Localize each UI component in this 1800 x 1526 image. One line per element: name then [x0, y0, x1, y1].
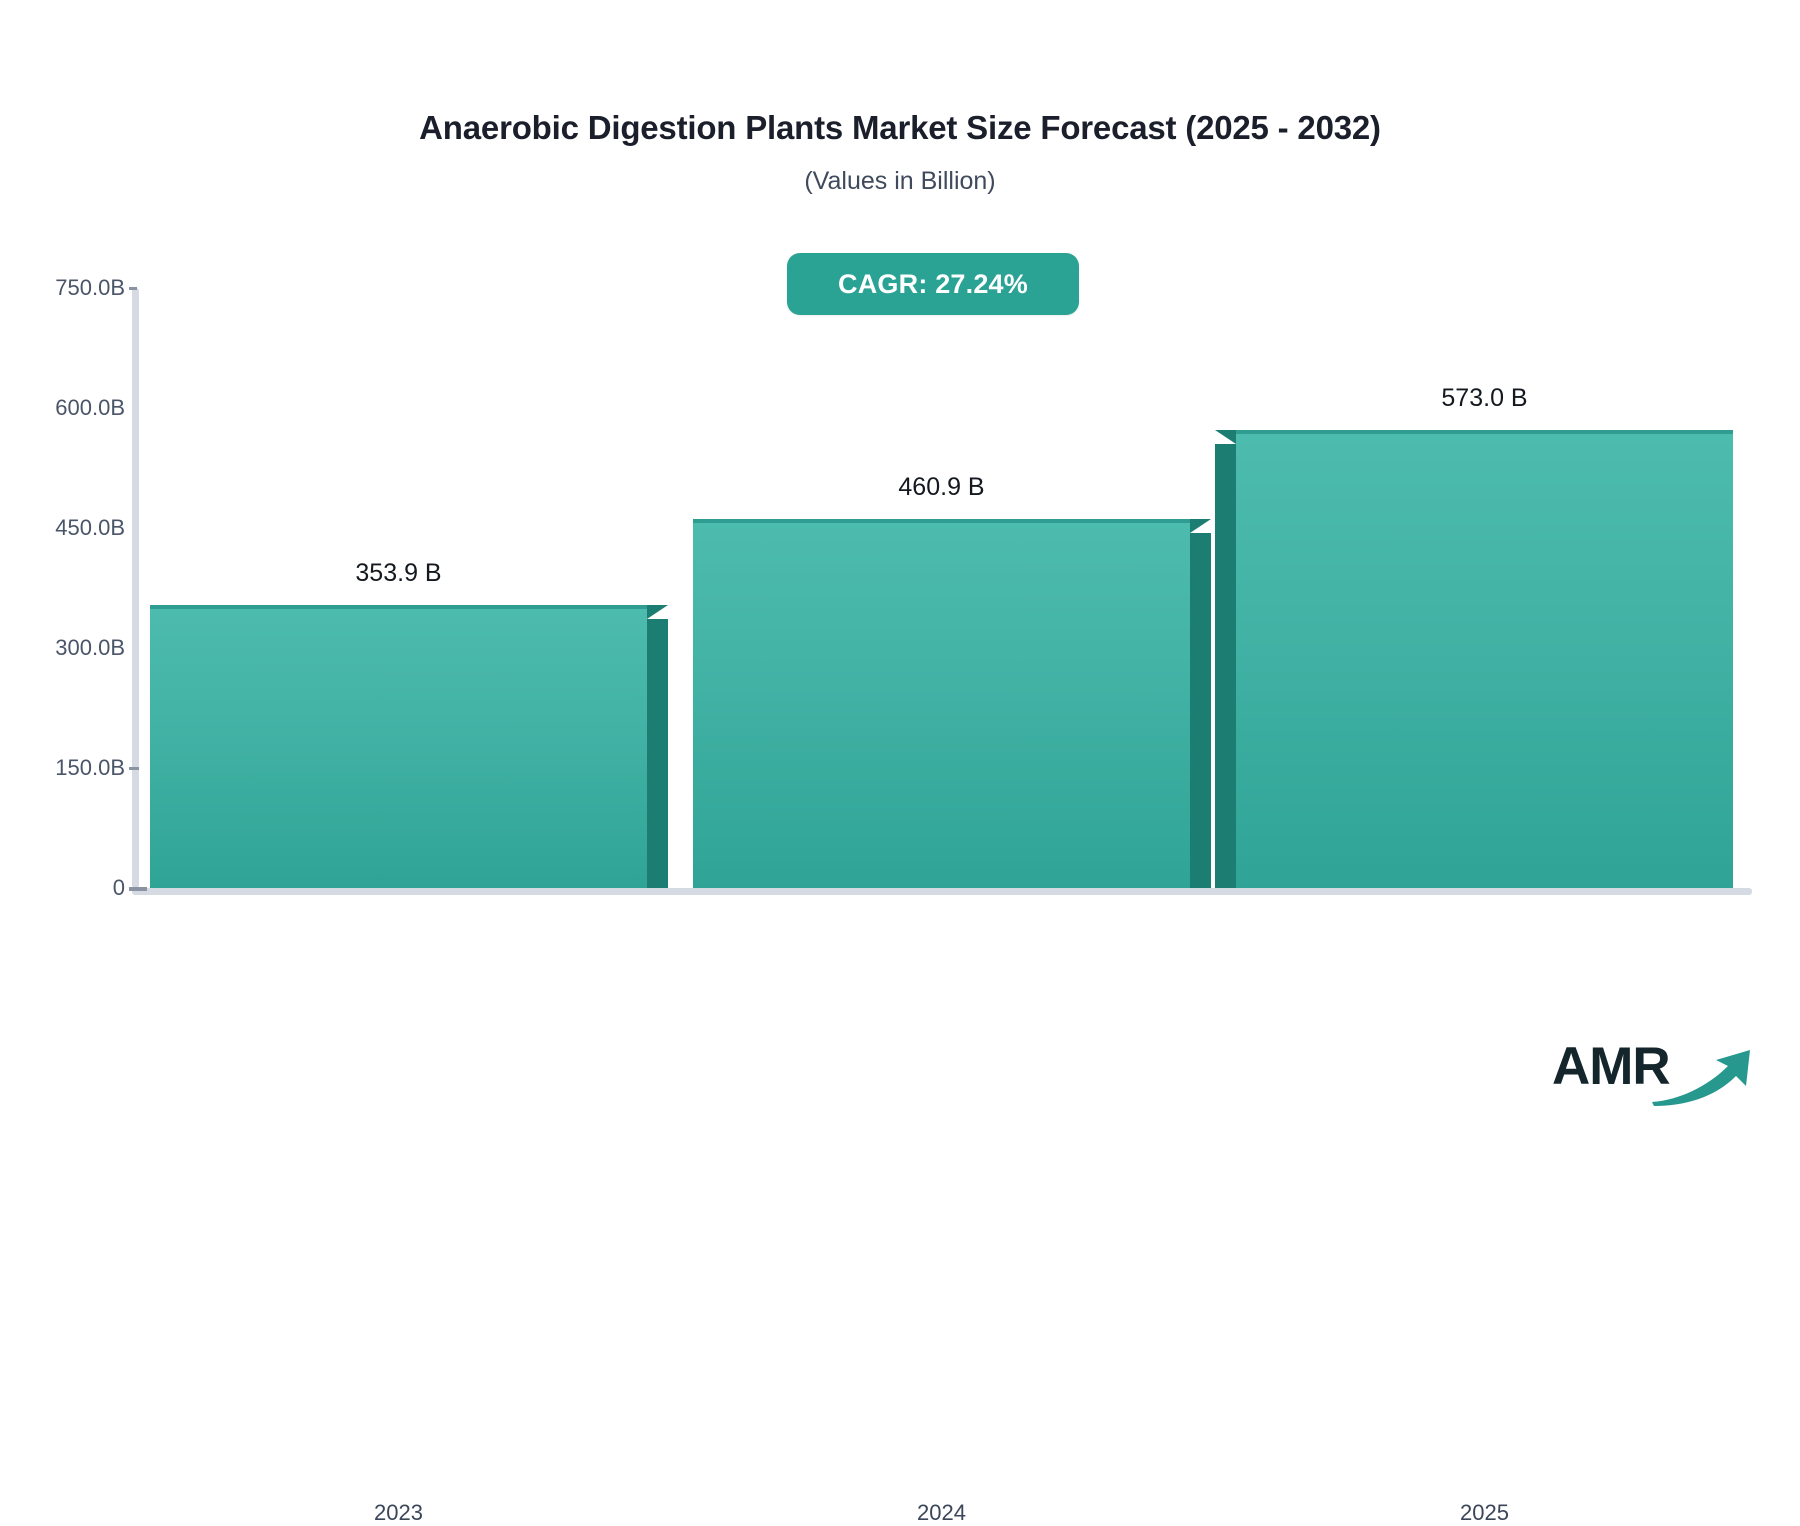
bar-top-edge [150, 605, 647, 609]
bar-value-label-2023: 353.9 B [150, 559, 647, 588]
y-axis-tick-0: 0 [0, 873, 125, 903]
bar-side-cap-2025 [1215, 430, 1236, 444]
bar-side-cap-2024 [1190, 519, 1211, 533]
bar-value-label-2024: 460.9 B [693, 473, 1190, 502]
y-axis-tick-label: 150.0B [55, 755, 125, 781]
y-axis-tick-dash [129, 887, 147, 891]
bar-face-2025 [1236, 430, 1733, 888]
y-axis-tick-dash [129, 287, 137, 290]
x-axis-label-2023: 2023 [150, 1500, 647, 1526]
title-block: Anaerobic Digestion Plants Market Size F… [0, 108, 1800, 196]
x-axis-label-2025: 2025 [1236, 1500, 1733, 1526]
y-axis-tick-label: 300.0B [55, 635, 125, 661]
y-axis-tick-150: 150.0B [0, 753, 125, 783]
x-axis-line [132, 888, 1752, 895]
growth-arrow-icon [1650, 1046, 1758, 1108]
x-axis-label-2024: 2024 [693, 1500, 1190, 1526]
chart-card: Anaerobic Digestion Plants Market Size F… [0, 0, 1800, 1156]
y-axis-tick-label: 450.0B [55, 515, 125, 541]
y-axis-tick-label: 600.0B [55, 395, 125, 421]
bar-side-2024 [1190, 533, 1211, 888]
y-axis-tick-label: 750.0B [55, 275, 125, 301]
bar-side-2023 [647, 619, 668, 888]
bar-value-label-2025: 573.0 B [1236, 384, 1733, 413]
y-axis-tick-label: 0 [113, 875, 125, 901]
bar-face-2023 [150, 605, 647, 888]
y-axis-tick-300: 300.0B [0, 633, 125, 663]
bar-side-2025 [1215, 444, 1236, 888]
y-axis-tick-450: 450.0B [0, 513, 125, 543]
y-axis-tick-dash [129, 767, 139, 770]
plot-area: 750.0B 600.0B 450.0B 300.0B 150.0B 0 353 [132, 288, 1752, 888]
page-title: Anaerobic Digestion Plants Market Size F… [0, 108, 1800, 148]
bar-top-edge [693, 519, 1190, 523]
amr-logo: AMR [1552, 1036, 1752, 1108]
chart-subtitle: (Values in Billion) [0, 166, 1800, 196]
bar-side-cap-2023 [647, 605, 668, 619]
bar-face-2024 [693, 519, 1190, 888]
y-axis-line [132, 288, 139, 888]
y-axis-tick-750: 750.0B [0, 273, 125, 303]
y-axis-tick-600: 600.0B [0, 393, 125, 423]
bar-top-edge [1236, 430, 1733, 434]
